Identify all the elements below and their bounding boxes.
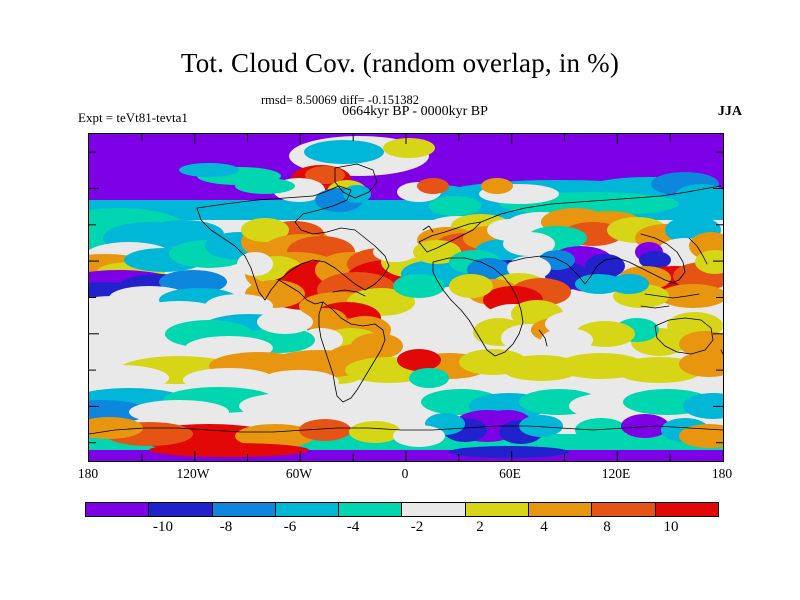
colorbar-band-9 — [656, 503, 718, 516]
colorbar-band-0 — [86, 503, 149, 516]
colorbar-band-7 — [529, 503, 592, 516]
x-tick-label-60e: 60E — [475, 466, 545, 482]
colorbar-tick-label-neg2: -2 — [387, 519, 447, 536]
colorbar-tick-label-neg8: -8 — [196, 519, 256, 536]
x-tick-label-120w: 120W — [158, 466, 228, 482]
colorbar-band-1 — [149, 503, 212, 516]
colorbar-band-2 — [213, 503, 276, 516]
map-plot-area — [88, 133, 724, 462]
x-tick-label-60w: 60W — [264, 466, 334, 482]
anomaly-map — [89, 134, 723, 461]
page-title: Tot. Cloud Cov. (random overlap, in %) — [0, 48, 800, 79]
colorbar-band-8 — [592, 503, 655, 516]
x-tick-label-0: 0 — [370, 466, 440, 482]
experiment-label: Expt = teVt81-tevta1 — [78, 110, 188, 126]
colorbar-tick-label-neg4: -4 — [323, 519, 383, 536]
colorbar-tick-label-pos10: 10 — [641, 519, 701, 536]
colorbar-tick-label-pos2: 2 — [450, 519, 510, 536]
colorbar-tick-label-pos4: 4 — [514, 519, 574, 536]
colorbar-band-4 — [339, 503, 402, 516]
figure-page: Tot. Cloud Cov. (random overlap, in %) r… — [0, 0, 800, 600]
season-label: JJA — [718, 104, 742, 120]
colorbar-tick-label-neg6: -6 — [260, 519, 320, 536]
x-tick-label-180w: 180 — [53, 466, 123, 482]
colorbar-band-6 — [466, 503, 529, 516]
x-tick-label-120e: 120E — [581, 466, 651, 482]
colorbar-band-5 — [402, 503, 465, 516]
colorbar-tick-label-pos8: 8 — [577, 519, 637, 536]
colorbar-tick-label-neg10: -10 — [133, 519, 193, 536]
x-tick-label-180e: 180 — [687, 466, 757, 482]
colorbar — [85, 502, 719, 517]
colorbar-band-3 — [276, 503, 339, 516]
